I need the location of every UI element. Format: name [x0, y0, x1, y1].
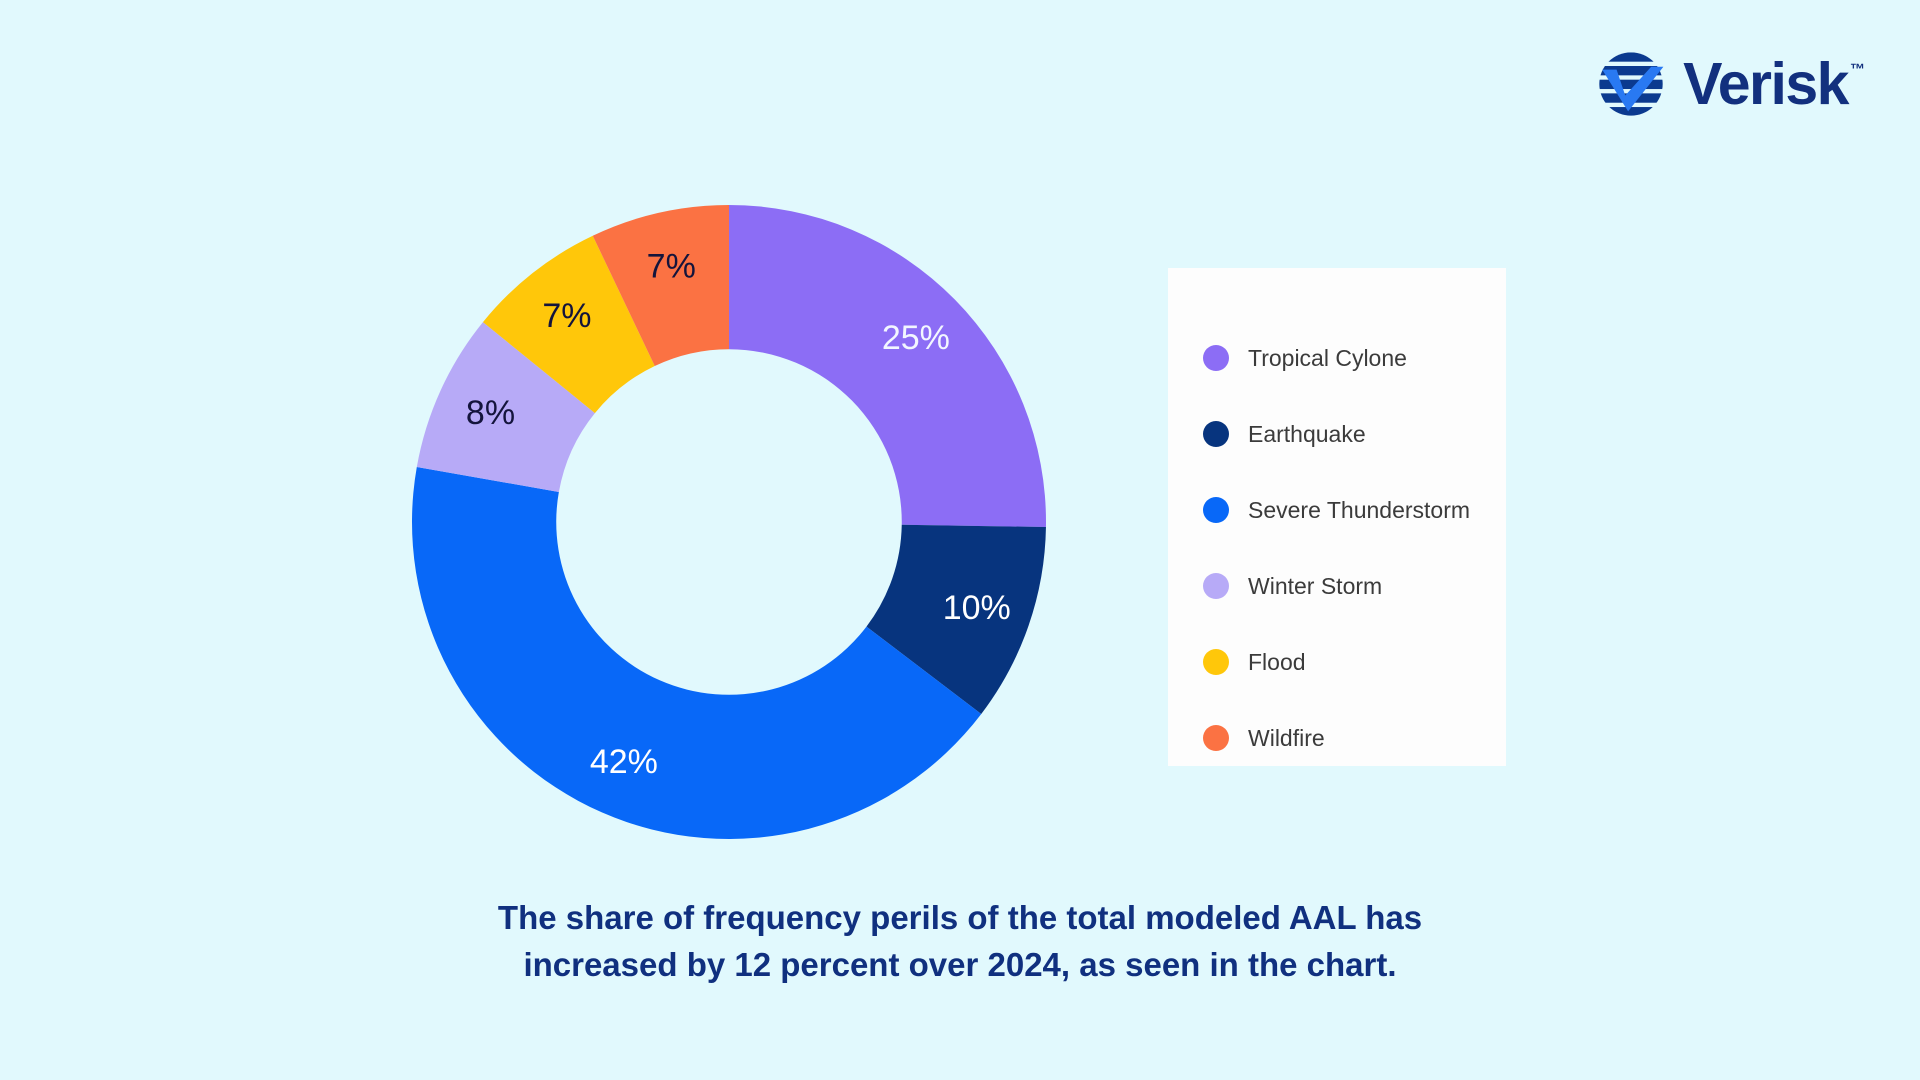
donut-slice-label: 7% — [542, 297, 591, 335]
legend-item-earthquake[interactable]: Earthquake — [1203, 396, 1506, 472]
donut-slices-group — [412, 205, 1046, 839]
donut-slice-label: 42% — [590, 743, 658, 781]
legend-item-flood[interactable]: Flood — [1203, 624, 1506, 700]
legend-item-label: Wildfire — [1248, 725, 1325, 752]
legend-item-label: Winter Storm — [1248, 573, 1382, 600]
legend-item-label: Tropical Cylone — [1248, 345, 1407, 372]
donut-slice-tropical-cylone[interactable] — [729, 205, 1046, 527]
verisk-globe-check-icon — [1595, 48, 1667, 120]
donut-slice-label: 8% — [466, 394, 515, 432]
legend-swatch-icon — [1203, 497, 1229, 523]
legend-item-wildfire[interactable]: Wildfire — [1203, 700, 1506, 776]
legend-item-label: Flood — [1248, 649, 1306, 676]
legend-swatch-icon — [1203, 725, 1229, 751]
donut-slice-severe-thunderstorm[interactable] — [412, 467, 981, 839]
donut-chart: 25%10%42%8%7%7% — [412, 205, 1046, 839]
brand-name: Verisk — [1683, 56, 1848, 112]
legend-swatch-icon — [1203, 421, 1229, 447]
chart-legend: Tropical CyloneEarthquakeSevere Thunders… — [1168, 268, 1506, 766]
verisk-logo: Verisk ™ — [1595, 48, 1865, 120]
legend-swatch-icon — [1203, 345, 1229, 371]
verisk-wordmark: Verisk ™ — [1683, 56, 1865, 112]
legend-item-winter-storm[interactable]: Winter Storm — [1203, 548, 1506, 624]
legend-item-label: Earthquake — [1248, 421, 1366, 448]
legend-item-label: Severe Thunderstorm — [1248, 497, 1470, 524]
donut-slice-label: 25% — [882, 319, 950, 357]
legend-swatch-icon — [1203, 649, 1229, 675]
caption-line-1: The share of frequency perils of the tot… — [430, 895, 1490, 942]
chart-caption: The share of frequency perils of the tot… — [430, 895, 1490, 989]
donut-slice-label: 10% — [943, 589, 1011, 627]
legend-item-tropical-cylone[interactable]: Tropical Cylone — [1203, 320, 1506, 396]
trademark-symbol: ™ — [1850, 62, 1865, 77]
donut-chart-svg: 25%10%42%8%7%7% — [412, 205, 1046, 839]
donut-slice-label: 7% — [647, 247, 696, 285]
legend-item-severe-thunderstorm[interactable]: Severe Thunderstorm — [1203, 472, 1506, 548]
caption-line-2: increased by 12 percent over 2024, as se… — [430, 942, 1490, 989]
legend-swatch-icon — [1203, 573, 1229, 599]
legend-items-list: Tropical CyloneEarthquakeSevere Thunders… — [1203, 320, 1506, 776]
